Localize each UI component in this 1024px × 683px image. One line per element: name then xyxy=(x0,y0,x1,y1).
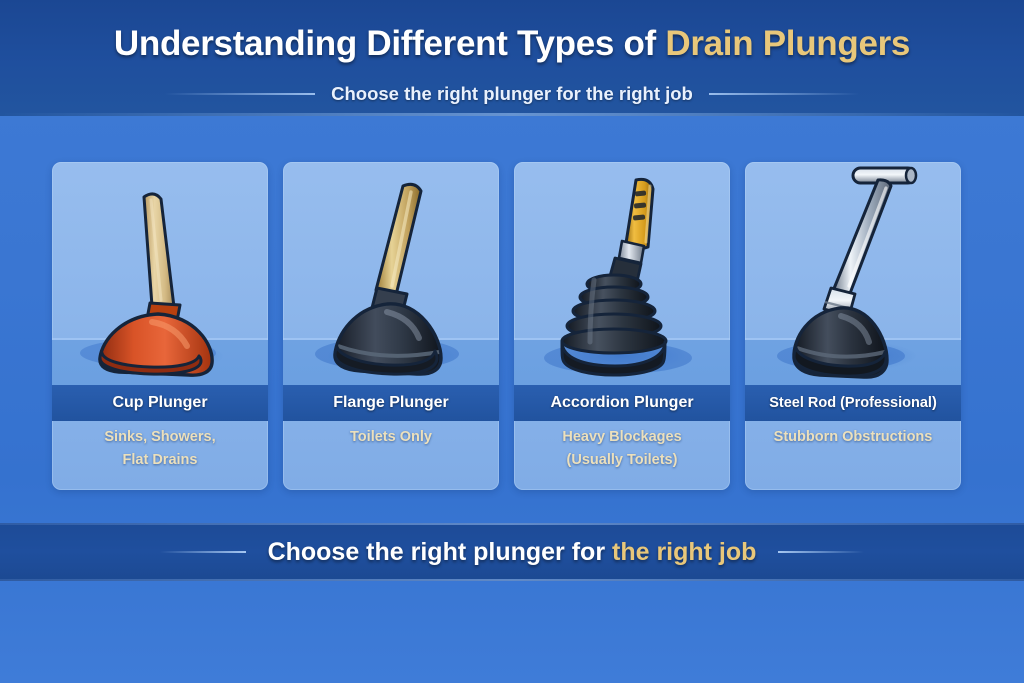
card-desc-text-cup: Sinks, Showers, Flat Drains xyxy=(104,429,215,468)
card-title-flange-plunger: Flange Plunger xyxy=(283,385,499,421)
steel-rod-plunger-stage xyxy=(745,162,961,385)
cup-plunger-icon xyxy=(52,162,268,385)
footer-tagline: Choose the right plunger for the right j… xyxy=(268,538,757,567)
infographic-poster: Understanding Different Types of Drain P… xyxy=(0,0,1024,683)
card-desc-text-steel-rod: Stubborn Obstructions xyxy=(774,429,933,445)
page-subtitle: Choose the right plunger for the right j… xyxy=(331,83,693,105)
card-desc-accordion-plunger: Heavy Blockages (Usually Toilets) xyxy=(514,426,730,472)
page-title-plain: Understanding Different Types of xyxy=(114,24,665,63)
card-desc-steel-rod-plunger: Stubborn Obstructions xyxy=(745,426,961,449)
flange-plunger-stage xyxy=(283,162,499,385)
footer-tagline-plain: Choose the right plunger for xyxy=(268,538,612,566)
page-title-accent: Drain Plungers xyxy=(665,24,910,63)
card-steel-rod-plunger[interactable]: Steel Rod (Professional) Stubborn Obstru… xyxy=(745,162,961,490)
card-desc-flange-plunger: Toilets Only xyxy=(283,426,499,449)
card-desc-text-flange: Toilets Only xyxy=(350,429,432,445)
accordion-plunger-icon xyxy=(514,162,730,385)
steel-rod-plunger-icon xyxy=(745,162,961,385)
footer-rule-right xyxy=(778,551,864,553)
cup-plunger-stage xyxy=(52,162,268,385)
footer-row: Choose the right plunger for the right j… xyxy=(0,523,1024,581)
accordion-plunger-stage xyxy=(514,162,730,385)
header-band: Understanding Different Types of Drain P… xyxy=(0,0,1024,116)
card-cup-plunger[interactable]: Cup Plunger Sinks, Showers, Flat Drains xyxy=(52,162,268,490)
footer-rule-left xyxy=(160,551,246,553)
card-desc-cup-plunger: Sinks, Showers, Flat Drains xyxy=(52,426,268,472)
subtitle-rule-left xyxy=(165,93,315,95)
footer-tagline-accent: the right job xyxy=(612,538,756,566)
card-title-accordion-plunger: Accordion Plunger xyxy=(514,385,730,421)
card-desc-text-accordion: Heavy Blockages (Usually Toilets) xyxy=(562,429,681,468)
page-title: Understanding Different Types of Drain P… xyxy=(0,24,1024,64)
flange-plunger-icon xyxy=(283,162,499,385)
subtitle-rule-right xyxy=(709,93,859,95)
card-title-cup-plunger: Cup Plunger xyxy=(52,385,268,421)
plunger-card-row: Cup Plunger Sinks, Showers, Flat Drains xyxy=(52,162,990,490)
subtitle-row: Choose the right plunger for the right j… xyxy=(0,80,1024,108)
card-accordion-plunger[interactable]: Accordion Plunger Heavy Blockages (Usual… xyxy=(514,162,730,490)
footer-band: Choose the right plunger for the right j… xyxy=(0,523,1024,581)
card-title-steel-rod-plunger: Steel Rod (Professional) xyxy=(745,385,961,421)
card-flange-plunger[interactable]: Flange Plunger Toilets Only xyxy=(283,162,499,490)
